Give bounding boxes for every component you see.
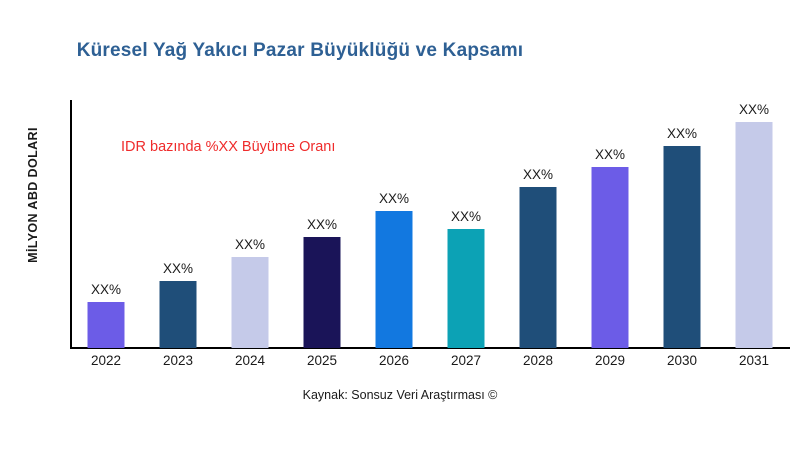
bar-2024[interactable]	[232, 257, 269, 348]
x-tick-2024: 2024	[214, 353, 286, 368]
bar-value-label-2023: XX%	[163, 261, 193, 276]
x-tick-2022: 2022	[70, 353, 142, 368]
x-axis-tick-labels: 2022202320242025202620272028202920302031	[70, 353, 790, 377]
bar-value-label-2028: XX%	[523, 167, 553, 182]
bar-group: XX%	[646, 100, 718, 348]
bar-2025[interactable]	[304, 237, 341, 348]
bar-group: XX%	[214, 100, 286, 348]
x-tick-2028: 2028	[502, 353, 574, 368]
bar-2028[interactable]	[520, 187, 557, 348]
source-caption: Kaynak: Sonsuz Veri Araştırması ©	[0, 388, 800, 402]
x-tick-2023: 2023	[142, 353, 214, 368]
x-tick-2026: 2026	[358, 353, 430, 368]
bar-2026[interactable]	[376, 211, 413, 348]
x-tick-2027: 2027	[430, 353, 502, 368]
bar-value-label-2027: XX%	[451, 209, 481, 224]
bar-value-label-2022: XX%	[91, 282, 121, 297]
y-axis-label: MİLYON ABD DOLARI	[26, 70, 40, 320]
x-tick-2030: 2030	[646, 353, 718, 368]
bar-2029[interactable]	[592, 167, 629, 348]
bar-group: XX%	[358, 100, 430, 348]
bar-2030[interactable]	[664, 146, 701, 348]
bar-group: XX%	[718, 100, 790, 348]
bar-2023[interactable]	[160, 281, 197, 348]
bar-group: XX%	[70, 100, 142, 348]
bar-value-label-2029: XX%	[595, 147, 625, 162]
bar-group: XX%	[430, 100, 502, 348]
page-title: Küresel Yağ Yakıcı Pazar Büyüklüğü ve Ka…	[0, 40, 600, 62]
bar-group: XX%	[286, 100, 358, 348]
bar-group: XX%	[502, 100, 574, 348]
x-tick-2031: 2031	[718, 353, 790, 368]
bar-value-label-2026: XX%	[379, 191, 409, 206]
bar-value-label-2025: XX%	[307, 217, 337, 232]
bar-value-label-2024: XX%	[235, 237, 265, 252]
x-tick-2029: 2029	[574, 353, 646, 368]
bar-value-label-2031: XX%	[739, 102, 769, 117]
bar-group: XX%	[142, 100, 214, 348]
plot-area: XX%XX%XX%XX%XX%XX%XX%XX%XX%XX%	[70, 100, 790, 348]
bar-value-label-2030: XX%	[667, 126, 697, 141]
bar-group: XX%	[574, 100, 646, 348]
chart-figure: Küresel Yağ Yakıcı Pazar Büyüklüğü ve Ka…	[0, 0, 800, 450]
bar-2022[interactable]	[88, 302, 125, 348]
bar-2027[interactable]	[448, 229, 485, 348]
x-tick-2025: 2025	[286, 353, 358, 368]
bar-2031[interactable]	[736, 122, 773, 348]
